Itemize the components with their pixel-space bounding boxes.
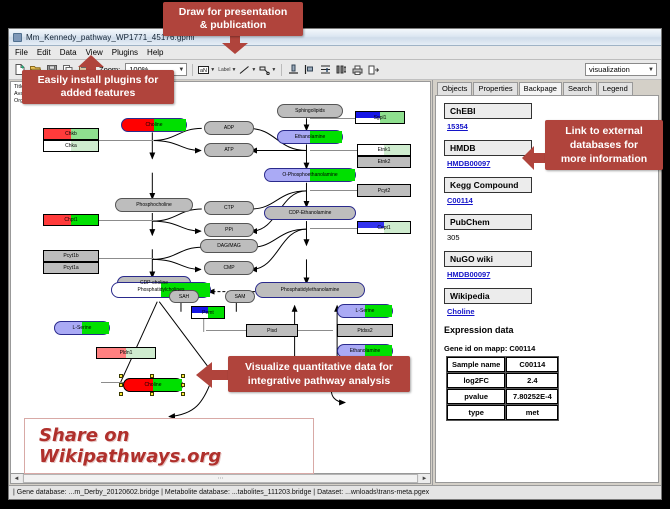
chevron-down-icon: ▼	[231, 67, 236, 73]
scroll-right-arrow-icon[interactable]: ►	[419, 474, 430, 483]
node-label: CTP	[224, 205, 234, 211]
node-label: ADP	[224, 125, 234, 131]
callout-link-line1: Link to external	[553, 124, 655, 138]
distribute-vertical-icon[interactable]	[319, 63, 332, 76]
label-tool[interactable]: Label ▼	[218, 67, 236, 73]
align-left-icon[interactable]	[303, 63, 316, 76]
scroll-left-arrow-icon[interactable]: ◄	[11, 474, 22, 483]
node-cept1[interactable]: Cept1	[357, 221, 411, 234]
node-pemt[interactable]: Pemt	[191, 306, 225, 319]
callout-draw: Draw for presentation & publication	[163, 2, 303, 36]
node-label: Choline	[145, 382, 162, 388]
selection-handle-sw[interactable]	[119, 392, 123, 396]
print-icon[interactable]	[351, 63, 364, 76]
edge-pcyt2	[310, 190, 357, 191]
chevron-down-icon: ▼	[271, 67, 276, 73]
section-header-wikipedia: Wikipedia	[444, 288, 532, 304]
line-tool[interactable]: ▼	[239, 65, 256, 75]
cell-value: 7.80252E-4	[506, 389, 558, 404]
node-label: Pisd	[247, 325, 297, 336]
callout-share: Share on Wikipathways.org	[24, 418, 314, 474]
visualization-value: visualization	[589, 65, 630, 74]
link-nugo[interactable]: HMDB00097	[447, 270, 652, 279]
toolbar-separator-2	[281, 64, 282, 76]
cell-value: 2.4	[506, 373, 558, 388]
node-cdp-ethanolamine[interactable]: CDP-Ethanolamine	[264, 206, 356, 220]
chevron-down-icon: ▼	[648, 67, 654, 73]
node-label: Chka	[44, 141, 98, 151]
node-label: Cept1	[358, 222, 410, 233]
app-icon	[13, 33, 22, 42]
edge-cept1	[310, 228, 357, 229]
node-ppi[interactable]: PPi	[204, 223, 254, 237]
node-ptdss2[interactable]: Ptdss2	[337, 324, 393, 337]
callout-draw-line2: & publication	[171, 19, 295, 32]
node-label: O-Phosphoethanolamine	[282, 172, 337, 178]
node-label: Choline	[146, 122, 163, 128]
expression-table: Sample name C00114 log2FC 2.4 pvalue 7.8…	[446, 356, 559, 421]
toolbar-separator-1	[192, 64, 193, 76]
node-etnk1[interactable]: Etnk1	[357, 144, 411, 156]
node-pisd[interactable]: Pisd	[246, 324, 298, 337]
scroll-thumb[interactable]: ⋯	[23, 474, 418, 483]
tab-search[interactable]: Search	[563, 82, 597, 95]
node-label: Pcyt2	[358, 185, 410, 196]
node-sam[interactable]: SAM	[225, 290, 255, 303]
table-row: log2FC 2.4	[447, 373, 558, 388]
node-label: ATP	[224, 147, 233, 153]
selection-handle-s[interactable]	[150, 392, 154, 396]
node-label: Ptdss2	[338, 325, 392, 336]
node-label: Chkb	[44, 129, 98, 139]
cell-value: met	[506, 405, 558, 420]
selection-handle-se[interactable]	[181, 392, 185, 396]
section-header-pubchem: PubChem	[444, 214, 532, 230]
svg-text:aN: aN	[200, 68, 207, 74]
callout-plugins-line1: Easily install plugins for	[30, 74, 166, 87]
node-chka[interactable]: Chka	[43, 140, 99, 152]
menu-bar: File Edit Data View Plugins Help	[9, 46, 661, 60]
node-chpt1[interactable]: Chpt1	[43, 214, 99, 226]
selection-handle-nw[interactable]	[119, 374, 123, 378]
node-label: Pemt	[192, 307, 224, 318]
callout-plugins: Easily install plugins for added feature…	[22, 70, 174, 104]
menu-edit[interactable]: Edit	[36, 48, 52, 57]
node-pcyt2[interactable]: Pcyt2	[357, 184, 411, 197]
value-pubchem: 305	[447, 233, 652, 242]
section-header-hmdb: HMDB	[444, 140, 532, 156]
edge-pisd-2	[298, 330, 333, 331]
node-label: L-Serine	[73, 325, 92, 331]
node-ethanolamine-top[interactable]: Ethanolamine	[277, 130, 343, 144]
node-pcyt1a[interactable]: Pcyt1a	[43, 262, 99, 274]
node-pldn1[interactable]: Pldn1	[96, 347, 156, 359]
node-label: Phosphatidylethanolamine	[281, 287, 340, 293]
node-phosphatidylethanolamine[interactable]: Phosphatidylethanolamine	[255, 282, 365, 298]
tab-legend[interactable]: Legend	[598, 82, 633, 95]
callout-plugins-line2: added features	[30, 87, 166, 100]
chevron-down-icon: ▼	[251, 67, 256, 73]
section-header-chebi: ChEBI	[444, 103, 532, 119]
menu-help[interactable]: Help	[146, 48, 164, 57]
node-atp[interactable]: ATP	[204, 143, 254, 157]
callout-share-text: Share on Wikipathways.org	[39, 425, 221, 467]
node-label: Ethanolamine	[295, 134, 326, 140]
datanode-tool[interactable]: aN ▼	[198, 65, 215, 75]
node-label: CDP-choline	[140, 280, 168, 286]
menu-data[interactable]: Data	[59, 48, 78, 57]
node-label: L-Serine	[356, 308, 375, 314]
callout-visualize-line1: Visualize quantitative data for	[236, 360, 402, 374]
callout-link-line2: databases for	[553, 138, 655, 152]
selection-handle-e[interactable]	[181, 383, 185, 387]
selection-handle-n[interactable]	[150, 374, 154, 378]
node-label: CMP	[223, 265, 234, 271]
node-adp[interactable]: ADP	[204, 121, 254, 135]
link-wikipedia[interactable]: Choline	[447, 307, 652, 316]
selection-handle-w[interactable]	[119, 383, 123, 387]
node-sphingolipids[interactable]: Sphingolipids	[277, 104, 343, 118]
edge-etnk	[310, 150, 357, 151]
screenshot-root: Mm_Kennedy_pathway_WP1771_45176.gpml Fil…	[0, 0, 670, 509]
node-phosphocholine[interactable]: Phosphocholine	[115, 198, 193, 212]
node-l-serine-left[interactable]: L-Serine	[54, 321, 110, 335]
node-label: Sphingolipids	[295, 108, 325, 114]
node-o-phosphoethanolamine[interactable]: O-Phosphoethanolamine	[264, 168, 356, 182]
node-label: Etnk1	[358, 145, 410, 155]
link-kegg[interactable]: C00114	[447, 196, 652, 205]
table-row: Sample name C00114	[447, 357, 558, 372]
node-label: SAM	[235, 294, 246, 300]
cell-label: Sample name	[447, 357, 505, 372]
table-row: pvalue 7.80252E-4	[447, 389, 558, 404]
node-label: Pcyt1a	[44, 263, 98, 273]
node-label: Pcyt1b	[44, 251, 98, 261]
cell-label: type	[447, 405, 505, 420]
node-sgpl1[interactable]: Sgpl1	[355, 111, 405, 124]
menu-plugins[interactable]: Plugins	[111, 48, 139, 57]
node-label: Etnk2	[358, 157, 410, 167]
callout-draw-line1: Draw for presentation	[171, 6, 295, 19]
side-panel-tabs: Objects Properties Backpage Search Legen…	[433, 80, 661, 95]
node-label: Ethanolamine	[350, 348, 381, 354]
node-label: Phosphatidylcholines	[138, 287, 185, 293]
section-header-kegg: Kegg Compound	[444, 177, 532, 193]
export-icon[interactable]	[367, 63, 380, 76]
node-etnk2[interactable]: Etnk2	[357, 156, 411, 168]
cell-label: pvalue	[447, 389, 505, 404]
node-l-serine-right[interactable]: L-Serine	[337, 304, 393, 318]
cell-value: C00114	[506, 357, 558, 372]
canvas-hscrollbar[interactable]: ◄ ⋯ ►	[10, 473, 431, 484]
pathway-canvas[interactable]: Title: Availa Organ	[10, 81, 431, 473]
callout-visualize-line2: integrative pathway analysis	[236, 374, 402, 388]
callout-link-line3: more information	[553, 152, 655, 166]
label-tool-text: Label	[218, 67, 230, 73]
node-ctp[interactable]: CTP	[204, 201, 254, 215]
equal-width-icon[interactable]	[335, 63, 348, 76]
node-label: PPi	[225, 227, 233, 233]
node-pcyt1b[interactable]: Pcyt1b	[43, 250, 99, 262]
tab-backpage[interactable]: Backpage	[519, 82, 562, 96]
node-choline-top[interactable]: Choline	[121, 118, 187, 132]
title-bar: Mm_Kennedy_pathway_WP1771_45176.gpml	[9, 29, 661, 46]
gene-id-line: Gene id on mapp: C00114	[444, 344, 652, 353]
node-dag-mag[interactable]: DAG/MAG	[200, 239, 258, 253]
menu-file[interactable]: File	[14, 48, 29, 57]
selection-handle-ne[interactable]	[181, 374, 185, 378]
node-label: Sgpl1	[356, 112, 404, 123]
cell-label: log2FC	[447, 373, 505, 388]
expression-data-title: Expression data	[444, 325, 652, 335]
edge-sgpl1	[310, 118, 355, 119]
node-label: CDP-Ethanolamine	[289, 210, 332, 216]
table-row: type met	[447, 405, 558, 420]
callout-visualize-arrow-icon	[196, 362, 232, 393]
node-label: Chpt1	[44, 215, 98, 225]
node-label: Phosphocholine	[136, 202, 172, 208]
node-label: Pldn1	[97, 348, 155, 358]
shape-tool[interactable]: ▼	[259, 65, 276, 75]
chevron-down-icon: ▼	[178, 67, 184, 73]
tab-objects[interactable]: Objects	[437, 82, 472, 95]
node-label: SAH	[179, 294, 189, 300]
visualization-combo[interactable]: visualization ▼	[585, 63, 657, 76]
chevron-down-icon: ▼	[210, 67, 215, 73]
callout-visualize: Visualize quantitative data for integrat…	[228, 356, 410, 392]
status-text: | Gene database: ...m_Derby_20120602.bri…	[13, 489, 429, 496]
node-cmp[interactable]: CMP	[204, 261, 254, 275]
callout-link: Link to external databases for more info…	[545, 120, 663, 170]
node-choline-selected[interactable]: Choline	[123, 378, 183, 392]
callout-draw-arrow-icon	[222, 34, 248, 59]
align-bottom-icon[interactable]	[287, 63, 300, 76]
status-bar: | Gene database: ...m_Derby_20120602.bri…	[9, 485, 661, 499]
node-chkb[interactable]: Chkb	[43, 128, 99, 140]
section-header-nugo: NuGO wiki	[444, 251, 532, 267]
tab-properties[interactable]: Properties	[473, 82, 517, 95]
node-label: DAG/MAG	[217, 243, 241, 249]
